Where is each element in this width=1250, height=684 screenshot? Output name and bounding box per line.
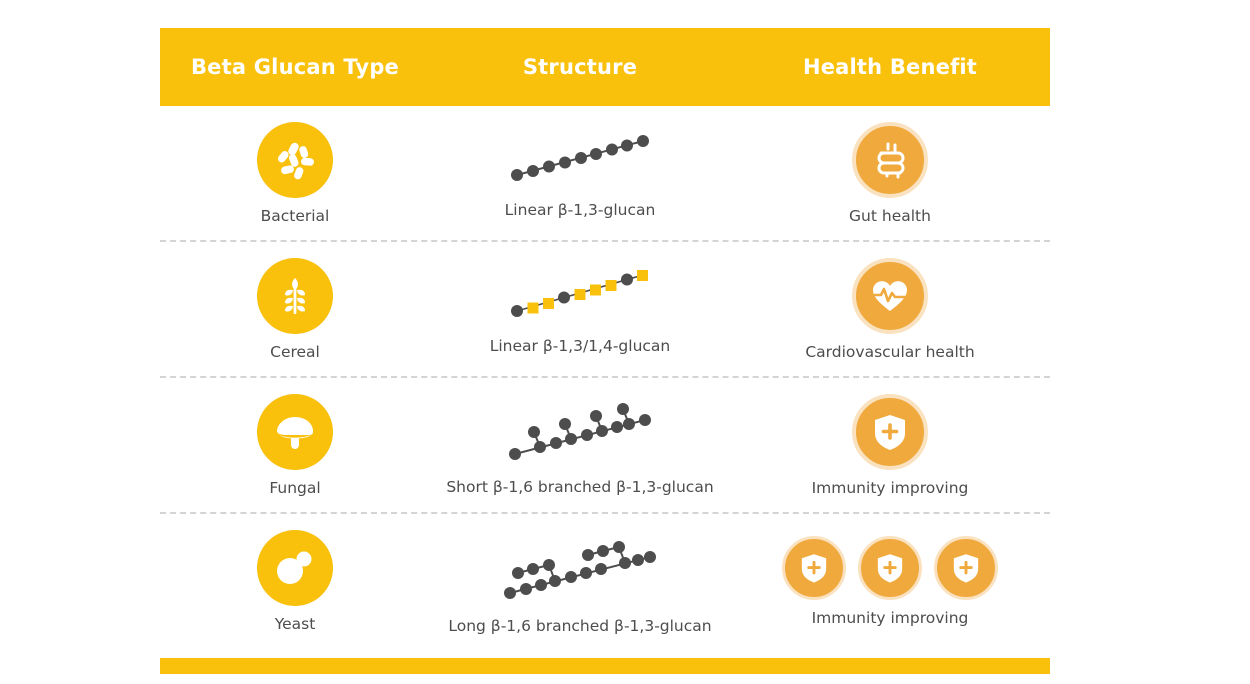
heart-pulse-icon <box>852 258 928 334</box>
shield-plus-icon-glyph <box>949 551 983 585</box>
benefit-label-immunity-fungal: Immunity improving <box>812 479 969 497</box>
short-branched-chain-diagram <box>505 394 655 466</box>
table-row-yeast: Yeast <box>160 514 1050 648</box>
type-label-bacterial: Bacterial <box>261 207 330 225</box>
long-branched-chain-diagram <box>500 527 660 605</box>
intestine-icon <box>852 122 928 198</box>
structure-label-bacterial: Linear β-1,3-glucan <box>505 201 656 219</box>
yeast-cell-icon <box>257 530 333 606</box>
mushroom-icon-glyph <box>271 408 319 456</box>
wheat-icon <box>257 258 333 334</box>
bacteria-icon-glyph <box>271 136 319 184</box>
benefit-cell-yeast: Immunity improving <box>730 536 1050 627</box>
type-cell-yeast: Yeast <box>160 530 430 633</box>
benefit-icon-group-immunity-triple <box>782 536 998 600</box>
shield-plus-icon-glyph <box>797 551 831 585</box>
table-row-cereal: Cereal Linear β-1,3/1,4-g <box>160 242 1050 378</box>
header-col-health-benefit: Health Benefit <box>730 55 1050 79</box>
linear-chain-diagram <box>505 127 655 189</box>
shield-plus-icon <box>782 536 846 600</box>
shield-plus-icon-glyph <box>869 411 911 453</box>
heart-pulse-icon-glyph <box>868 274 912 318</box>
benefit-label-gut-health: Gut health <box>849 207 931 225</box>
header-col-type: Beta Glucan Type <box>160 55 430 79</box>
shield-plus-icon-glyph <box>873 551 907 585</box>
table-row-fungal: Fungal <box>160 378 1050 514</box>
structure-label-yeast: Long β-1,6 branched β-1,3-glucan <box>448 617 711 635</box>
benefit-icon-group-cardio <box>852 258 928 334</box>
mixed-linkage-chain-diagram <box>505 263 655 325</box>
structure-cell-yeast: Long β-1,6 branched β-1,3-glucan <box>430 527 730 635</box>
header-col-structure: Structure <box>430 55 730 79</box>
type-label-fungal: Fungal <box>269 479 320 497</box>
benefit-label-immunity-yeast: Immunity improving <box>812 609 969 627</box>
structure-label-fungal: Short β-1,6 branched β-1,3-glucan <box>446 478 713 496</box>
type-cell-fungal: Fungal <box>160 394 430 497</box>
header-label-structure: Structure <box>523 55 637 79</box>
structure-label-cereal: Linear β-1,3/1,4-glucan <box>490 337 671 355</box>
type-cell-cereal: Cereal <box>160 258 430 361</box>
yeast-cell-icon-glyph <box>271 544 319 592</box>
benefit-cell-fungal: Immunity improving <box>730 394 1050 497</box>
benefit-cell-cereal: Cardiovascular health <box>730 258 1050 361</box>
type-label-yeast: Yeast <box>275 615 316 633</box>
header-label-beta-glucan-type: Beta Glucan Type <box>191 55 399 79</box>
wheat-icon-glyph <box>272 273 318 319</box>
structure-cell-fungal: Short β-1,6 branched β-1,3-glucan <box>430 394 730 496</box>
structure-cell-bacterial: Linear β-1,3-glucan <box>430 127 730 219</box>
structure-cell-cereal: Linear β-1,3/1,4-glucan <box>430 263 730 355</box>
benefit-cell-bacterial: Gut health <box>730 122 1050 225</box>
table-row-bacterial: Bacterial Linear β-1,3-glucan <box>160 106 1050 242</box>
header-label-health-benefit: Health Benefit <box>803 55 977 79</box>
intestine-icon-glyph <box>868 138 912 182</box>
bottom-accent-bar <box>160 658 1050 674</box>
shield-plus-icon <box>858 536 922 600</box>
shield-plus-icon <box>852 394 928 470</box>
shield-plus-icon <box>934 536 998 600</box>
benefit-icon-group-immunity-single <box>852 394 928 470</box>
bacteria-icon <box>257 122 333 198</box>
table-header-row: Beta Glucan Type Structure Health Benefi… <box>160 28 1050 106</box>
type-cell-bacterial: Bacterial <box>160 122 430 225</box>
beta-glucan-comparison-table: Beta Glucan Type Structure Health Benefi… <box>160 28 1050 674</box>
type-label-cereal: Cereal <box>270 343 320 361</box>
mushroom-icon <box>257 394 333 470</box>
benefit-label-cardiovascular-health: Cardiovascular health <box>805 343 974 361</box>
benefit-icon-group-gut <box>852 122 928 198</box>
